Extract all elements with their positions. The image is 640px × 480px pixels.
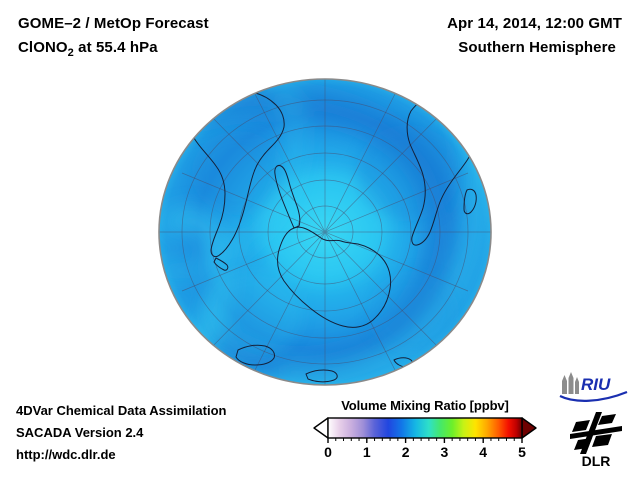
colorbar-arrow-right bbox=[522, 418, 536, 438]
dlr-mark-icon bbox=[570, 412, 622, 454]
colorbar-tick-label: 2 bbox=[402, 444, 410, 460]
version-label: SACADA Version 2.4 bbox=[16, 422, 316, 444]
riu-logo: RIU bbox=[556, 372, 630, 402]
footer-credits: 4DVar Chemical Data Assimilation SACADA … bbox=[16, 400, 316, 466]
species-name: ClONO bbox=[18, 39, 68, 56]
colorbar-tick-labels: 012345 bbox=[312, 444, 538, 464]
header-right: Apr 14, 2014, 12:00 GMT Southern Hemisph… bbox=[322, 12, 622, 60]
valid-datetime: Apr 14, 2014, 12:00 GMT bbox=[322, 12, 622, 36]
species-level: at 55.4 hPa bbox=[74, 39, 158, 56]
dlr-logo: DLR bbox=[566, 410, 628, 468]
region-label: Southern Hemisphere bbox=[322, 36, 622, 60]
riu-spires-icon bbox=[562, 372, 579, 394]
colorbar-ticks bbox=[328, 438, 522, 443]
riu-wordmark: RIU bbox=[581, 375, 611, 394]
instrument-title: GOME–2 / MetOp Forecast bbox=[18, 12, 348, 36]
colorbar-tick-label: 4 bbox=[479, 444, 487, 460]
dlr-wordmark: DLR bbox=[582, 453, 611, 468]
colorbar-tick-label: 0 bbox=[324, 444, 332, 460]
colorbar-tick-label: 1 bbox=[363, 444, 371, 460]
globe-map bbox=[158, 78, 492, 386]
colorbar-bar bbox=[328, 418, 522, 438]
colorbar-tick-label: 5 bbox=[518, 444, 526, 460]
orthographic-projection bbox=[158, 78, 492, 386]
species-title: ClONO2 at 55.4 hPa bbox=[18, 36, 348, 65]
colorbar: Volume Mixing Ratio [ppbv] 012345 bbox=[312, 398, 538, 464]
colorbar-gradient bbox=[312, 417, 538, 443]
wdc-url: http://wdc.dlr.de bbox=[16, 444, 316, 466]
header-left: GOME–2 / MetOp Forecast ClONO2 at 55.4 h… bbox=[18, 12, 348, 65]
assimilation-label: 4DVar Chemical Data Assimilation bbox=[16, 400, 316, 422]
colorbar-arrow-left bbox=[314, 418, 328, 438]
colorbar-tick-label: 3 bbox=[440, 444, 448, 460]
colorbar-title: Volume Mixing Ratio [ppbv] bbox=[312, 398, 538, 413]
